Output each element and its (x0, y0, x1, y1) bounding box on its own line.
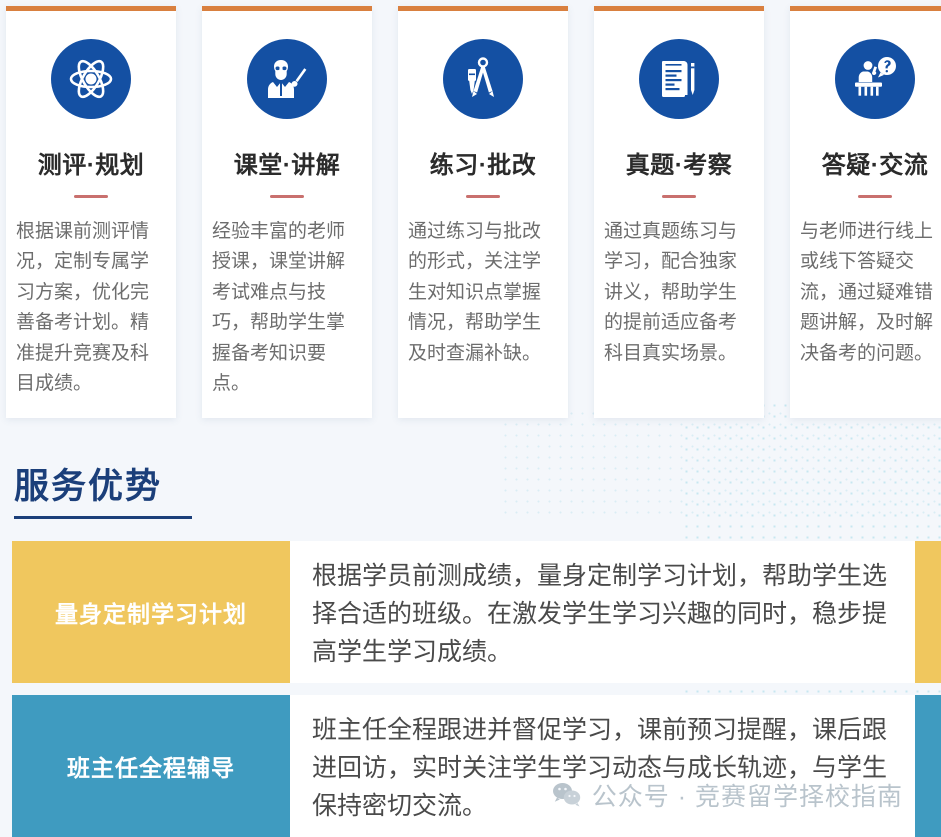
feature-card-row: 测评·规划 根据课前测评情况，定制专属学习方案，优化完善备考计划。精准提升竞赛及… (0, 0, 941, 418)
feature-card-body: 通过真题练习与学习，配合独家讲义，帮助学生的提前适应备考科目真实场景。 (604, 217, 754, 369)
advantage-edge-accent (915, 695, 941, 837)
title-divider (74, 195, 108, 198)
advantage-row[interactable]: 量身定制学习计划 根据学员前测成绩，量身定制学习计划，帮助学生选择合适的班级。在… (0, 541, 941, 683)
feature-card[interactable]: 课堂·讲解 经验丰富的老师授课，课堂讲解考试难点与技巧，帮助学生掌握备考知识要点… (202, 6, 372, 418)
feature-card-body: 经验丰富的老师授课，课堂讲解考试难点与技巧，帮助学生掌握备考知识要点。 (212, 217, 362, 399)
wechat-icon (552, 782, 582, 808)
advantage-row[interactable]: 班主任全程辅导 班主任全程跟进并督促学习，课前预习提醒，课后跟进回访，实时关注学… (0, 695, 941, 837)
feature-card[interactable]: 练习·批改 通过练习与批改的形式，关注学生对知识点掌握情况，帮助学生及时查漏补缺… (398, 6, 568, 418)
feature-card-body: 通过练习与批改的形式，关注学生对知识点掌握情况，帮助学生及时查漏补缺。 (408, 217, 558, 369)
section-title: 服务优势 (14, 458, 192, 516)
title-divider (466, 195, 500, 198)
advantage-text: 班主任全程跟进并督促学习，课前预习提醒，课后跟进回访，实时关注学生学习动态与成长… (290, 695, 915, 837)
feature-card-title: 测评·规划 (38, 145, 145, 180)
watermark-text: 公众号 · 竞赛留学择校指南 (592, 777, 903, 813)
section-underline (14, 516, 192, 519)
feature-card[interactable]: 测评·规划 根据课前测评情况，定制专属学习方案，优化完善备考计划。精准提升竞赛及… (6, 6, 176, 418)
feature-card-body: 根据课前测评情况，定制专属学习方案，优化完善备考计划。精准提升竞赛及科目成绩。 (16, 217, 166, 399)
student-question-icon (835, 39, 915, 119)
background-dot-pattern-middle (500, 408, 941, 518)
feature-card[interactable]: 真题·考察 通过真题练习与学习，配合独家讲义，帮助学生的提前适应备考科目真实场景… (594, 6, 764, 418)
watermark: 公众号 · 竞赛留学择校指南 (552, 777, 903, 813)
feature-card-body: 与老师进行线上或线下答疑交流，通过疑难错题讲解，及时解决备考的问题。 (800, 217, 941, 369)
feature-card[interactable]: 答疑·交流 与老师进行线上或线下答疑交流，通过疑难错题讲解，及时解决备考的问题。 (790, 6, 941, 418)
title-divider (270, 195, 304, 198)
title-divider (858, 195, 892, 198)
feature-card-title: 课堂·讲解 (234, 145, 341, 180)
teacher-pointer-icon (247, 39, 327, 119)
advantage-label: 班主任全程辅导 (12, 695, 290, 837)
feature-card-title: 答疑·交流 (822, 145, 929, 180)
advantage-text: 根据学员前测成绩，量身定制学习计划，帮助学生选择合适的班级。在激发学生学习兴趣的… (290, 541, 915, 683)
section-header: 服务优势 (14, 458, 192, 519)
feature-card-title: 真题·考察 (626, 145, 733, 180)
title-divider (662, 195, 696, 198)
exam-paper-pencil-icon (639, 39, 719, 119)
compass-divider-icon (443, 39, 523, 119)
feature-card-title: 练习·批改 (430, 145, 537, 180)
advantage-label: 量身定制学习计划 (12, 541, 290, 683)
advantage-edge-accent (915, 541, 941, 683)
atom-icon (51, 39, 131, 119)
